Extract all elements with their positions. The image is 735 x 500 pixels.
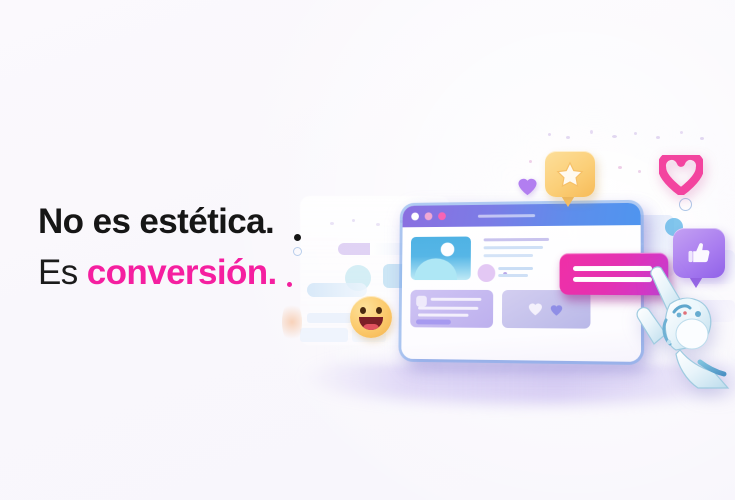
background-dark-dot: [294, 234, 301, 241]
profile-card-line-2: [418, 307, 478, 310]
content-text-line-2: [484, 246, 543, 249]
window-minimize-dot[interactable]: [425, 212, 433, 220]
profile-card-line-1: [431, 298, 482, 301]
star-icon: [556, 161, 584, 188]
headline-prefix: Es: [38, 253, 87, 292]
background-ring-small: [293, 247, 302, 256]
image-thumbnail: [411, 237, 471, 281]
avatar: [416, 296, 427, 307]
emoji-eye-left: [360, 307, 366, 314]
grinning-face-emoji: [350, 296, 392, 338]
window-close-dot[interactable]: [411, 213, 419, 221]
heart-small-badge[interactable]: [517, 177, 538, 196]
content-accent-circle: [478, 264, 496, 282]
background-bar-1: [307, 283, 367, 297]
heart-large-badge[interactable]: [659, 155, 703, 195]
emoji-tongue: [363, 324, 379, 330]
browser-address-bar[interactable]: [478, 214, 535, 218]
browser-titlebar: [403, 203, 641, 228]
background-bar-3: [300, 328, 348, 342]
promo-banner: No es estética. Es conversión.: [0, 0, 735, 500]
content-text-line-4: [498, 267, 533, 270]
heart-icon: [517, 177, 538, 196]
background-warm-orb: [282, 300, 302, 344]
emoji-mouth: [359, 317, 383, 330]
profile-card-progress: [416, 319, 451, 324]
headline-block: No es estética. Es conversión.: [38, 200, 277, 296]
background-pink-dot: [287, 282, 292, 287]
sun-icon: [441, 243, 455, 257]
headline-highlight: conversión.: [87, 253, 277, 292]
window-maximize-dot[interactable]: [438, 212, 446, 220]
heart-icon: [528, 302, 543, 316]
content-text-line-5: [498, 274, 528, 277]
headline-line-2: Es conversión.: [38, 250, 277, 296]
emoji-eye-right: [376, 307, 382, 314]
mountain-icon: [414, 258, 457, 280]
heart-icon-secondary: [550, 303, 563, 315]
profile-card-line-3: [418, 313, 469, 316]
star-badge[interactable]: [545, 151, 595, 197]
content-text-line-3: [484, 254, 533, 257]
headline-line-1: No es estética.: [38, 200, 277, 244]
content-text-line-1: [484, 238, 549, 241]
heart-icon: [659, 155, 703, 195]
background-ring: [679, 198, 692, 211]
profile-card[interactable]: [410, 290, 493, 328]
robot-hand-pointing: [636, 262, 732, 390]
